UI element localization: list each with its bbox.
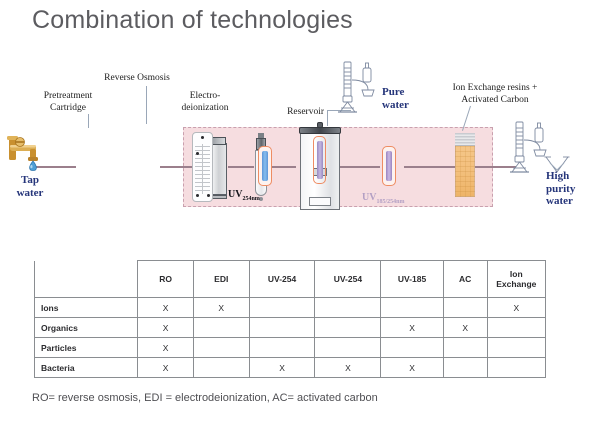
uv-254-label-text: UV: [228, 189, 242, 200]
uv-185-label: UV185/254nm: [362, 192, 404, 205]
faucet-icon: [6, 132, 50, 172]
reservoir-uv-lamp-icon: [313, 136, 326, 184]
cell-organics-ac: X: [443, 318, 487, 338]
cell-bacteria-ro: X: [138, 358, 194, 378]
th-ion-exchange: Ion Exchange: [487, 261, 545, 298]
cell-ions-edi: X: [193, 298, 249, 318]
leader-line: [146, 86, 147, 124]
cell-bacteria-ion-exchange: [487, 358, 545, 378]
cell-particles-uv185: [381, 338, 443, 358]
cell-organics-ion-exchange: [487, 318, 545, 338]
table-row: Particles X: [35, 338, 546, 358]
row-label-ions: Ions: [35, 298, 138, 318]
page-title: Combination of technologies: [32, 6, 353, 35]
th-uv254-a: UV-254: [249, 261, 315, 298]
row-label-particles: Particles: [35, 338, 138, 358]
cell-ions-ro: X: [138, 298, 194, 318]
cell-bacteria-uv185: X: [381, 358, 443, 378]
cell-organics-uv254-a: [249, 318, 315, 338]
th-ro: RO: [138, 261, 194, 298]
cell-bacteria-uv254-b: X: [315, 358, 381, 378]
tap-water-label: Tap water: [8, 174, 52, 199]
th-blank-corner: [35, 261, 138, 298]
uv-254-label-sub: 254nm: [242, 196, 259, 202]
pipe-segment: [404, 166, 456, 168]
cell-ions-uv254-b: [315, 298, 381, 318]
cell-ions-ac: [443, 298, 487, 318]
high-purity-water-label: High purity water: [546, 170, 596, 208]
cell-particles-ro: X: [138, 338, 194, 358]
ion-exchange-ac-label: Ion Exchange resins + Activated Carbon: [420, 82, 570, 106]
matrix-table: RO EDI UV-254 UV-254 UV-185 AC Ion Excha…: [34, 260, 546, 378]
table-row: Organics X X X: [35, 318, 546, 338]
row-label-organics: Organics: [35, 318, 138, 338]
cell-organics-edi: [193, 318, 249, 338]
leader-line: [327, 110, 328, 126]
cell-particles-ac: [443, 338, 487, 358]
reverse-osmosis-label: Reverse Osmosis: [74, 72, 200, 84]
table-head: RO EDI UV-254 UV-254 UV-185 AC Ion Excha…: [35, 261, 546, 298]
leader-line: [88, 114, 89, 128]
cell-particles-uv254-b: [315, 338, 381, 358]
electrodeionization-label: Electro- deionization: [150, 90, 260, 114]
cell-ions-ion-exchange: X: [487, 298, 545, 318]
uv-185-label-text: UV: [362, 192, 376, 203]
cell-particles-edi: [193, 338, 249, 358]
cell-ions-uv185: [381, 298, 443, 318]
th-edi: EDI: [193, 261, 249, 298]
cell-organics-uv254-b: [315, 318, 381, 338]
uv-254-label: UV254nm: [228, 189, 260, 202]
cell-organics-ro: X: [138, 318, 194, 338]
th-uv185: UV-185: [381, 261, 443, 298]
cell-bacteria-ac: [443, 358, 487, 378]
technology-matrix-table: RO EDI UV-254 UV-254 UV-185 AC Ion Excha…: [34, 260, 546, 378]
pipe-segment: [268, 166, 296, 168]
cell-bacteria-edi: [193, 358, 249, 378]
table-header-row: RO EDI UV-254 UV-254 UV-185 AC Ion Excha…: [35, 261, 546, 298]
pipe-segment: [228, 166, 254, 168]
cell-particles-uv254-a: [249, 338, 315, 358]
th-uv254-b: UV-254: [315, 261, 381, 298]
cell-organics-uv185: X: [381, 318, 443, 338]
slide-canvas: Combination of technologies Tap water: [0, 0, 600, 425]
abbreviation-footnote: RO= reverse osmosis, EDI = electrodeioni…: [32, 392, 378, 404]
uv-185-lamp-icon: [382, 146, 396, 186]
pipe-segment: [340, 166, 380, 168]
resin-column-icon: [455, 133, 475, 197]
uv-185-label-sub: 185/254nm: [376, 199, 404, 205]
th-ac: AC: [443, 261, 487, 298]
table-body: Ions X X X Organics X X X: [35, 298, 546, 378]
reservoir-label: Reservoir: [264, 106, 324, 118]
pretreatment-label: Pretreatment Cartridge: [10, 90, 126, 114]
uv-254-lamp-icon: [258, 146, 272, 186]
edi-module-icon: [192, 132, 213, 202]
pure-water-dispenser-icon: [336, 60, 382, 118]
table-row: Ions X X X: [35, 298, 546, 318]
cell-bacteria-uv254-a: X: [249, 358, 315, 378]
process-diagram: Tap water Pretreatment Cartridge Reverse…: [0, 58, 600, 248]
cell-ions-uv254-a: [249, 298, 315, 318]
table-row: Bacteria X X X X: [35, 358, 546, 378]
cell-particles-ion-exchange: [487, 338, 545, 358]
row-label-bacteria: Bacteria: [35, 358, 138, 378]
